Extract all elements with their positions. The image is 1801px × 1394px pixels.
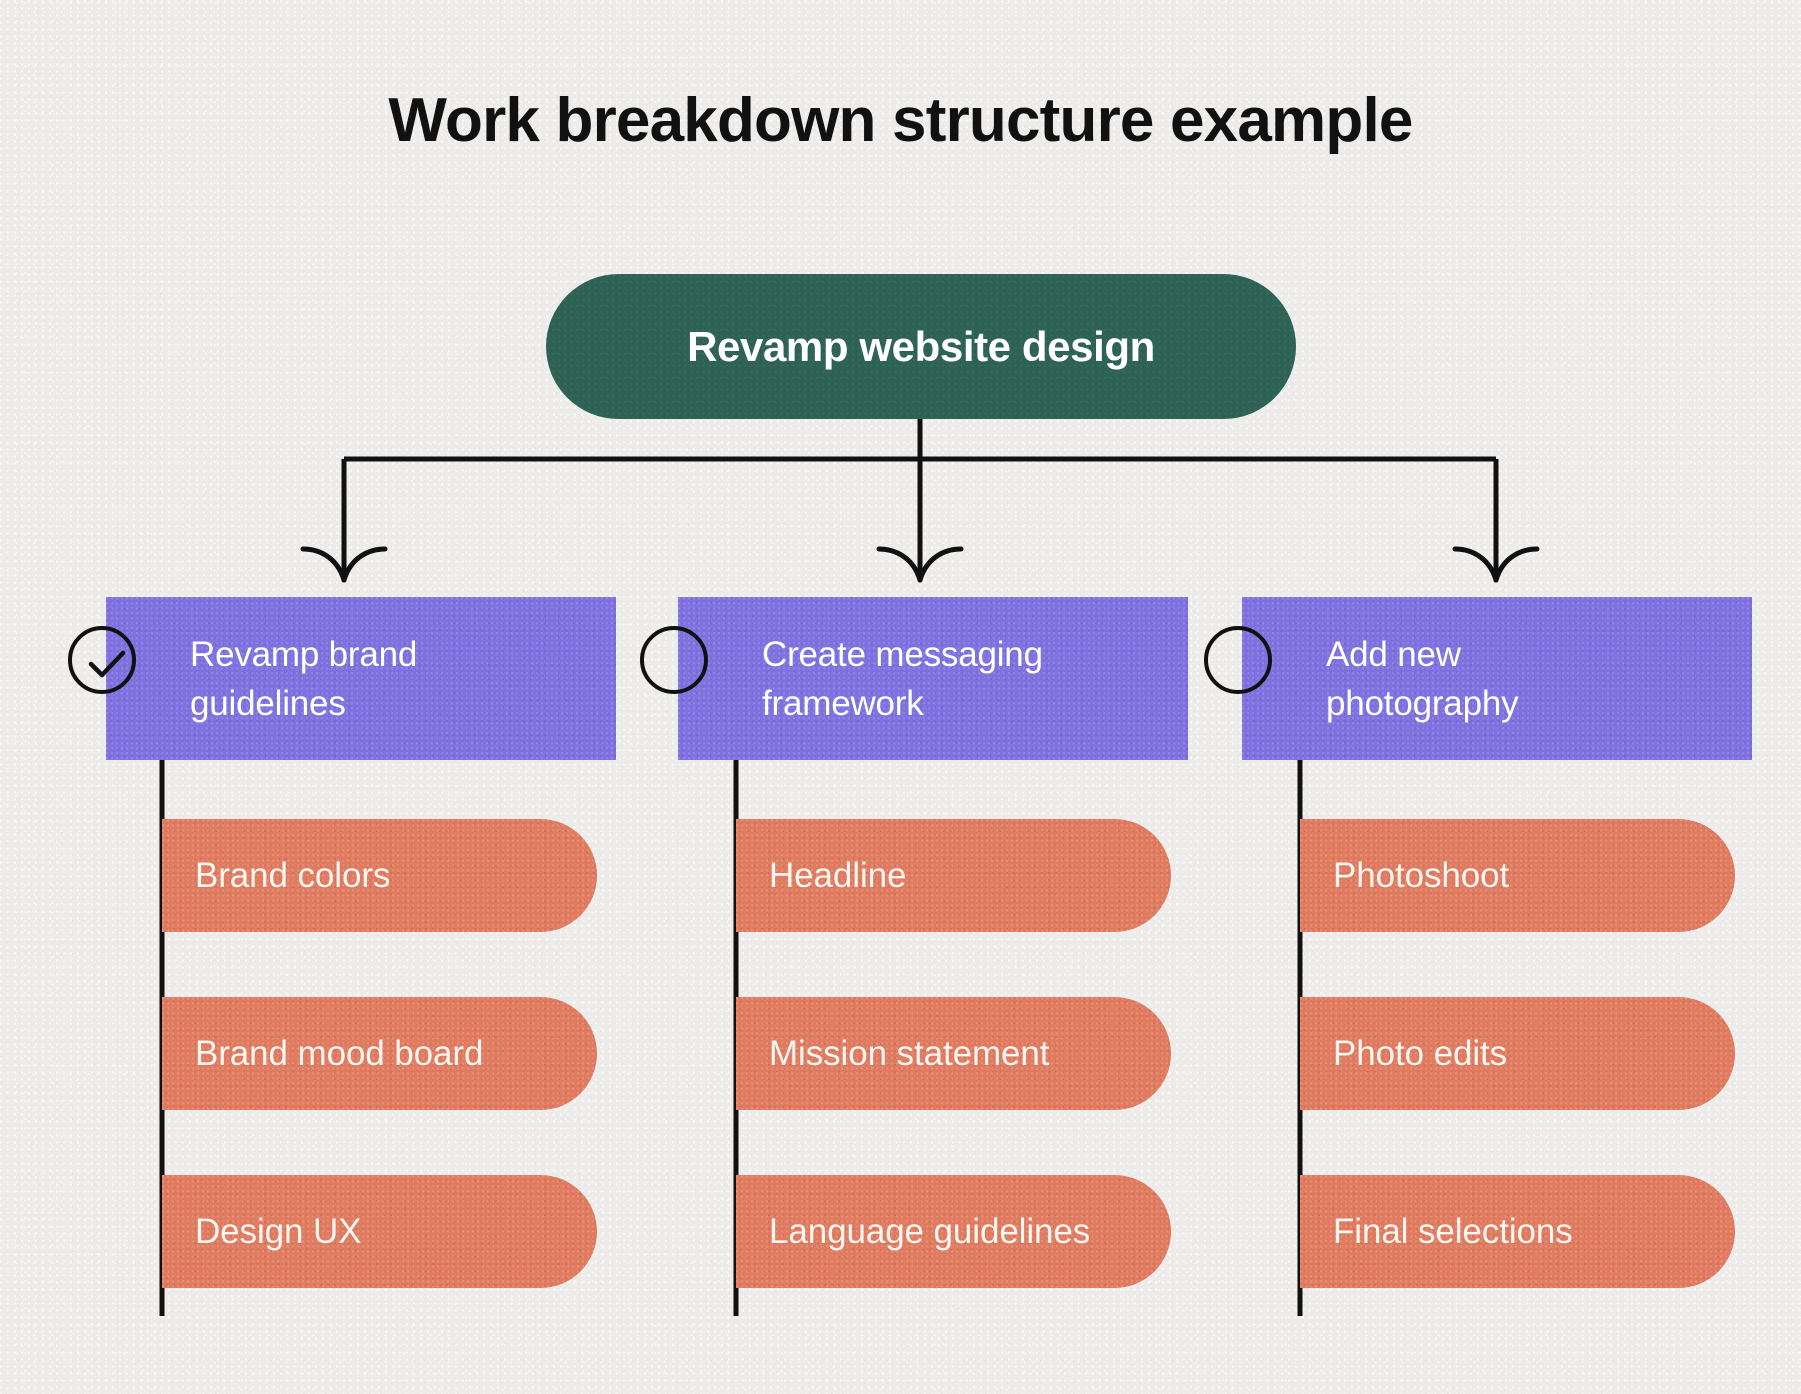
- task-pill-2-1[interactable]: Headline: [736, 819, 1171, 932]
- task-pill-3-3[interactable]: Final selections: [1300, 1175, 1735, 1288]
- phase-node-3[interactable]: Add new photography: [1242, 597, 1752, 760]
- task-pill-1-1-label: Brand colors: [195, 856, 390, 896]
- task-pill-2-3[interactable]: Language guidelines: [736, 1175, 1171, 1288]
- task-pill-1-3-label: Design UX: [195, 1212, 361, 1252]
- task-pill-1-2[interactable]: Brand mood board: [162, 997, 597, 1110]
- task-pill-3-2[interactable]: Photo edits: [1300, 997, 1735, 1110]
- root-node-label: Revamp website design: [687, 323, 1155, 371]
- page-title: Work breakdown structure example: [0, 84, 1801, 158]
- checkmark-icon: [68, 626, 144, 702]
- phase-node-1-label: Revamp brand guidelines: [190, 630, 417, 728]
- task-pill-1-1[interactable]: Brand colors: [162, 819, 597, 932]
- circle-icon[interactable]: [640, 626, 708, 694]
- task-pill-2-1-label: Headline: [769, 856, 906, 896]
- circle-icon[interactable]: [1204, 626, 1272, 694]
- phase-node-1[interactable]: Revamp brand guidelines: [106, 597, 616, 760]
- task-pill-2-2-label: Mission statement: [769, 1034, 1049, 1074]
- task-pill-3-3-label: Final selections: [1333, 1212, 1573, 1252]
- task-pill-3-1[interactable]: Photoshoot: [1300, 819, 1735, 932]
- check-circle-icon[interactable]: [68, 626, 136, 694]
- task-pill-3-2-label: Photo edits: [1333, 1034, 1507, 1074]
- task-pill-3-1-label: Photoshoot: [1333, 856, 1509, 896]
- phase-node-2[interactable]: Create messaging framework: [678, 597, 1188, 760]
- phase-node-2-label: Create messaging framework: [762, 630, 1043, 728]
- task-pill-1-3[interactable]: Design UX: [162, 1175, 597, 1288]
- root-node[interactable]: Revamp website design: [546, 274, 1296, 419]
- phase-node-3-label: Add new photography: [1326, 630, 1518, 728]
- task-pill-2-3-label: Language guidelines: [769, 1212, 1090, 1252]
- task-pill-1-2-label: Brand mood board: [195, 1034, 483, 1074]
- task-pill-2-2[interactable]: Mission statement: [736, 997, 1171, 1110]
- diagram-canvas: Work breakdown structure example: [0, 0, 1801, 1394]
